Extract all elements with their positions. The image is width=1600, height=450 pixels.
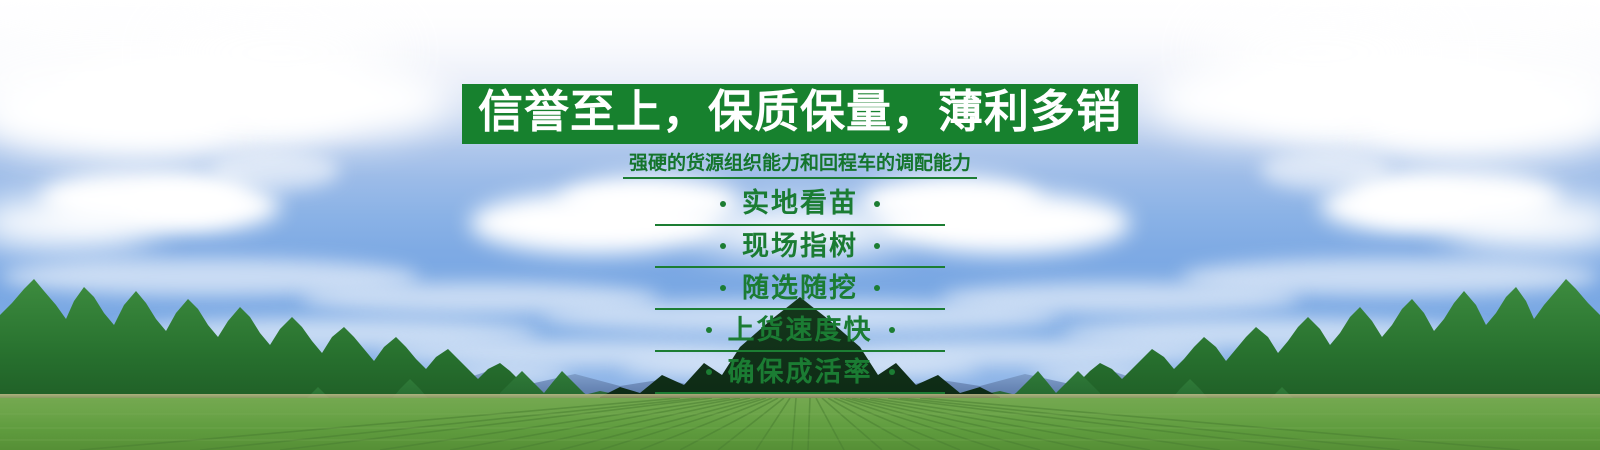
banner-content: 信誉至上，保质保量，薄利多销 强硬的货源组织能力和回程车的调配能力 实地看苗 现… xyxy=(0,0,1600,450)
bullet-dot-icon xyxy=(874,201,880,207)
feature-list: 实地看苗 现场指树 随选随挖 上货速度快 确保成活率 xyxy=(655,187,945,393)
feature-label: 现场指树 xyxy=(742,231,858,262)
feature-item-3: 随选随挖 xyxy=(655,272,945,310)
feature-label: 确保成活率 xyxy=(728,357,873,388)
bullet-dot-icon xyxy=(706,369,712,375)
bullet-dot-icon xyxy=(874,285,880,291)
bullet-dot-icon xyxy=(889,369,895,375)
bullet-dot-icon xyxy=(889,327,895,333)
promotional-banner: 信誉至上，保质保量，薄利多销 强硬的货源组织能力和回程车的调配能力 实地看苗 现… xyxy=(0,0,1600,450)
bullet-dot-icon xyxy=(720,243,726,249)
subtitle: 强硬的货源组织能力和回程车的调配能力 xyxy=(623,152,977,180)
feature-label: 实地看苗 xyxy=(742,188,858,219)
bullet-dot-icon xyxy=(720,201,726,207)
bullet-dot-icon xyxy=(706,327,712,333)
feature-item-1: 实地看苗 xyxy=(655,187,945,225)
feature-item-5: 确保成活率 xyxy=(655,356,945,394)
title-banner: 信誉至上，保质保量，薄利多销 xyxy=(462,84,1138,144)
feature-label: 随选随挖 xyxy=(742,273,858,304)
bullet-dot-icon xyxy=(874,243,880,249)
page-title: 信誉至上，保质保量，薄利多销 xyxy=(478,88,1122,136)
feature-item-4: 上货速度快 xyxy=(655,314,945,352)
feature-item-2: 现场指树 xyxy=(655,230,945,268)
bullet-dot-icon xyxy=(720,285,726,291)
feature-label: 上货速度快 xyxy=(728,315,873,346)
